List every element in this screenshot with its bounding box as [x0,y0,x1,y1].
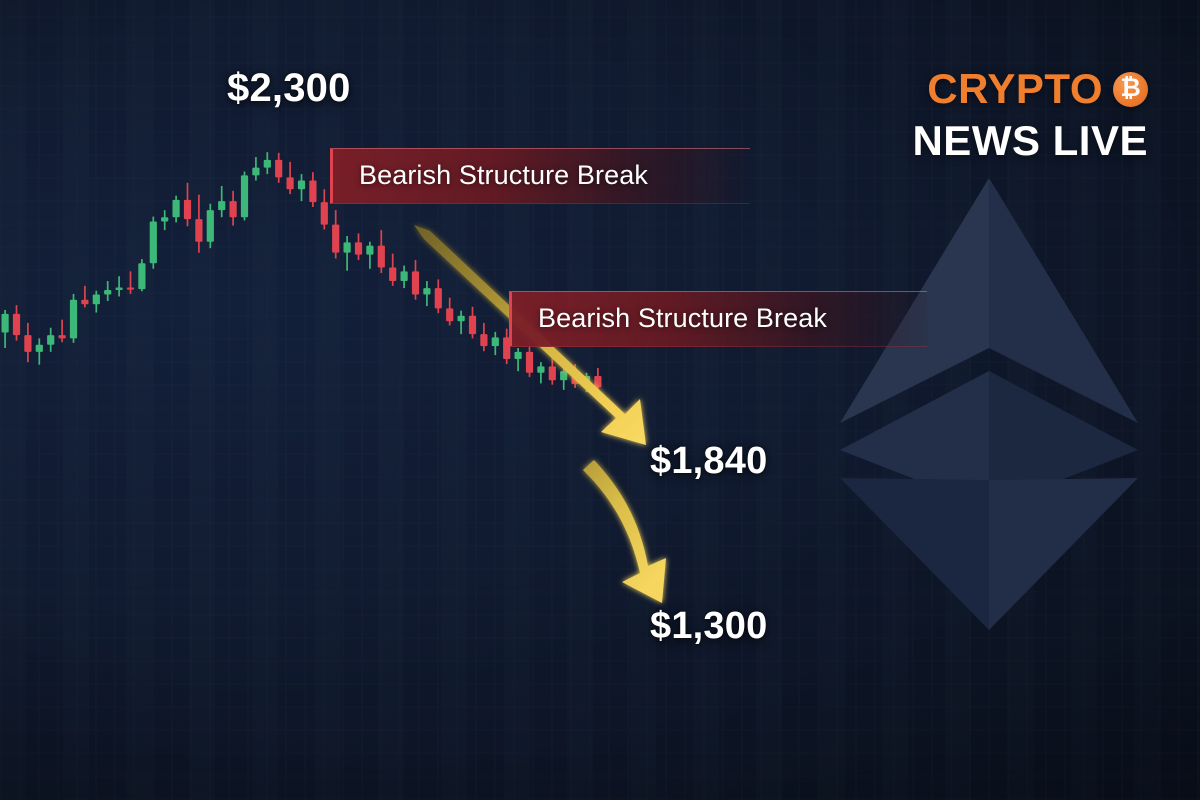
bitcoin-icon: ₿ [1113,72,1148,107]
bearish-structure-break-badge-1: Bearish Structure Break [330,148,750,204]
price-label-target: $1,300 [650,605,767,648]
bitcoin-glyph: ₿ [1120,76,1140,101]
bearish-structure-break-label-2: Bearish Structure Break [538,303,827,334]
brand-logo-crypto-text: CRYPTO [927,68,1103,110]
infographic-canvas: $2,300 $1,840 $1,300 Bearish Structure B… [0,0,1200,800]
brand-logo-row-top: CRYPTO ₿ [912,68,1148,110]
price-label-support-broken: $1,840 [650,440,767,483]
brand-logo: CRYPTO ₿ NEWS LIVE [912,68,1148,162]
brand-logo-newslive-text: NEWS LIVE [912,120,1148,162]
price-label-resistance: $2,300 [227,66,351,111]
bearish-structure-break-badge-2: Bearish Structure Break [509,291,927,347]
bearish-structure-break-label-1: Bearish Structure Break [359,160,648,191]
